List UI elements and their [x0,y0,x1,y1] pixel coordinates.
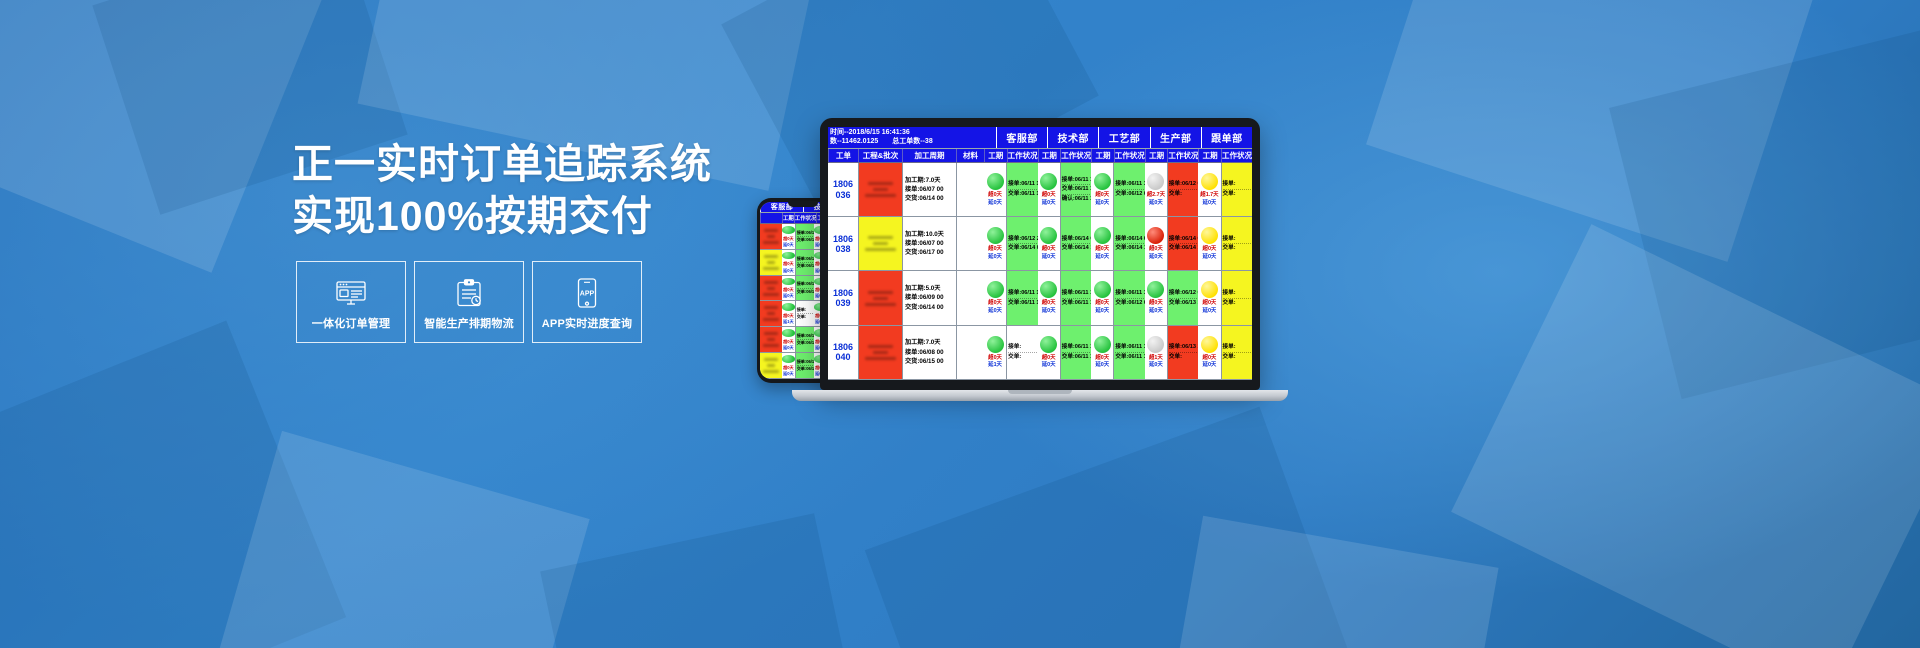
delay-badge: 延0天 [782,242,794,247]
duration-cell-客服部: 超0天延0天 [984,217,1006,270]
clipboard-schedule-icon [456,278,482,308]
work-status-cell-客服部: 接单:06/11 17交单:06/11 17 [795,327,814,352]
status-tags: 超0天延0天 [782,339,795,350]
status-tags: 超0天延0天 [782,365,795,376]
work-status-cell-技术部: 接单:06/11 17交单:06/11 17确认:06/11 17 [1060,163,1091,216]
work-status-cell-跟单部: 接单:交单: [1221,163,1252,216]
erp-subheader: 工单工程&批次加工周期材料工期工作状况工期工作状况工期工作状况工期工作状况工期工… [828,149,1252,163]
subheader-生产部-工期: 工期 [1145,149,1168,162]
work-status-cell-工艺部: 接单:06/11 17交单:06/12 09 [1113,163,1144,216]
dept-group-客服部: 超0天延1天接单:交单: [984,326,1038,379]
overdue-badge: 超0天 [782,365,794,370]
delay-badge: 延0天 [782,371,794,376]
cycle-line: 接单:06/09 00 [905,293,954,302]
delay-badge: 延0天 [1148,308,1164,315]
dept-group-客服部: 超0天延0天接单:06/12 20交单:06/14 06 [782,353,814,378]
duration-cell-技术部: 超0天延0天 [1038,217,1060,270]
status-dot-green [1040,227,1057,244]
work-status-cell-客服部: 接单:06/11 17交单:06/11 17 [795,224,814,249]
work-status-cell-客服部: 接单:06/11 17交单:06/11 17 [1006,271,1037,324]
status-line: 接单:06/11 17 [1062,343,1090,353]
duration-cell-工艺部: 超0天延0天 [1091,163,1113,216]
status-line: 交单:06/14 06 [797,366,813,372]
status-tags: 超0天延0天 [1038,192,1060,207]
status-dot-green [1094,281,1111,298]
status-line: 交单:06/11 17 [1115,353,1143,362]
status-line: 交单:06/14 14 [1169,244,1197,253]
cycle-line: 交货:06/17 00 [905,248,954,257]
subheader-材料: 材料 [956,149,984,162]
erp-dashboard: 时间--2018/6/15 16:41:36 数--11462.0125 总工单… [828,127,1252,380]
work-status-cell-技术部: 接单:06/14 06交单:06/14 14 [1060,217,1091,270]
status-line: 接单:06/12 20 [797,256,813,263]
delay-badge: 延0天 [1202,308,1218,315]
work-status-cell-工艺部: 接单:06/11 17交单:06/12 09 [1113,271,1144,324]
subheader-加工周期: 加工周期 [902,149,956,162]
status-dot-red [1147,227,1164,244]
status-tags: 超0天延0天 [1145,300,1167,315]
delay-badge: 延0天 [1148,200,1164,207]
status-dot-green [1094,227,1111,244]
dept-group-技术部: 超0天延0天接单:06/11 17交单:06/11 17确认:06/11 17 [1038,163,1092,216]
delay-badge: 延1天 [987,362,1003,369]
duration-cell-工艺部: 超0天延0天 [1091,217,1113,270]
delay-badge: 延0天 [987,308,1003,315]
table-row[interactable]: 1806036加工期:7.0天接单:06/07 00交货:06/14 00超0天… [828,163,1252,217]
processing-cycle-cell: 加工期:7.0天接单:06/08 00交货:06/15 00 [902,326,956,379]
cycle-line: 交货:06/14 00 [905,194,954,203]
subheader-跟单部-工期: 工期 [1198,149,1221,162]
erp-meta-count-line: 数--11462.0125 总工单数--38 [830,137,994,146]
status-tags: 超0天延0天 [1038,246,1060,261]
subheader-客服部-工作状况: 工作状况 [794,213,817,223]
status-dot-green [782,355,795,363]
cycle-line: 加工期:10.0天 [905,230,954,239]
status-tags: 超0天延0天 [1198,300,1220,315]
status-dot-green [782,303,795,311]
delay-badge: 延0天 [1094,254,1110,261]
dept-group-客服部: 超0天延0天接单:06/11 17交单:06/11 17 [782,276,814,301]
status-dot-yellow [1201,281,1218,298]
status-line: 交单: [797,314,813,320]
status-line: 交单:06/14 14 [1115,244,1143,253]
status-line: 交单:06/11 17 [1008,299,1036,308]
status-dot-green [782,226,795,234]
dept-group-客服部: 超0天延0天接单:06/11 17交单:06/11 17 [984,163,1038,216]
cycle-line: 加工期:5.0天 [905,284,954,293]
dept-group-客服部: 超0天延1天接单:交单: [782,301,814,326]
overdue-badge: 超0天 [1041,355,1057,362]
status-dot-yellow [1201,336,1218,353]
feature-label: 一体化订单管理 [312,315,390,331]
erp-meta-time-line: 时间--2018/6/15 16:41:36 [830,128,994,137]
subheader-技术部-工期: 工期 [1038,149,1061,162]
project-batch-cell [858,271,902,324]
status-line: 接单:06/11 17 [1008,289,1036,299]
work-status-cell-生产部: 接单:06/12 09交单:06/13 10 [1167,271,1198,324]
status-tags: 超0天延0天 [1091,192,1113,207]
work-status-cell-客服部: 接单:06/11 17交单:06/11 17 [795,276,814,301]
cycle-line: 接单:06/07 00 [905,239,954,248]
dept-group-技术部: 超0天延0天接单:06/14 06交单:06/14 14 [1038,217,1092,270]
status-line: 交单: [1169,190,1197,199]
overdue-badge: 超0天 [987,246,1003,253]
material-cell [956,217,984,270]
dept-group-客服部: 超0天延0天接单:06/11 17交单:06/11 17 [984,271,1038,324]
cycle-line: 交货:06/15 00 [905,357,954,366]
erp-count-label: 数--11462.0125 [830,137,878,146]
delay-badge: 延0天 [1041,254,1057,261]
work-status-cell-跟单部: 接单:交单: [1221,217,1252,270]
dept-group-技术部: 超0天延0天接单:06/11 17交单:06/11 17 [1038,271,1092,324]
processing-cycle-cell: 加工期:5.0天接单:06/09 00交货:06/14 00 [902,271,956,324]
svg-text:APP: APP [580,290,595,297]
dept-group-工艺部: 超0天延0天接单:06/11 17交单:06/11 17 [1091,326,1145,379]
duration-cell-客服部: 超0天延0天 [782,327,795,352]
work-status-cell-客服部: 接单:06/12 20交单:06/14 06 [795,250,814,275]
order-number-cell: 1806038 [828,217,858,270]
status-line: 接单:06/13 16 [1169,343,1197,353]
subheader-spacer [760,213,782,223]
delay-badge: 延0天 [782,345,794,350]
overdue-badge: 超0天 [987,355,1003,362]
subheader-客服部-工期: 工期 [984,149,1007,162]
subheader-客服部-工作状况: 工作状况 [1007,149,1038,162]
delay-badge: 延0天 [987,200,1003,207]
feature-card-app-tracking[interactable]: APP APP实时进度查询 [532,261,642,343]
delay-badge: 延0天 [1041,362,1057,369]
status-tags: 超0天延0天 [1091,300,1113,315]
status-tags: 超0天延0天 [1145,246,1167,261]
headline-line-2: 实现100%按期交付 [292,190,762,242]
table-row[interactable]: 1806039加工期:5.0天接单:06/09 00交货:06/14 00超0天… [828,271,1252,325]
status-line: 交单: [1223,299,1251,308]
delay-badge: 延0天 [1094,200,1110,207]
status-dot-green [782,252,795,260]
status-dot-green [1040,173,1057,190]
processing-cycle-cell: 加工期:7.0天接单:06/07 00交货:06/14 00 [902,163,956,216]
delay-badge: 延0天 [1202,362,1218,369]
status-line: 交单: [1223,190,1251,199]
status-line: 接单:06/12 09 [1169,180,1197,190]
duration-cell-技术部: 超0天延0天 [1038,163,1060,216]
delay-badge: 延0天 [1202,200,1218,207]
delay-badge: 延0天 [1041,200,1057,207]
erp-time-label: 时间--2018/6/15 16:41:36 [830,128,910,137]
status-line: 交单:06/12 09 [1115,299,1143,308]
duration-cell-工艺部: 超0天延0天 [1091,271,1113,324]
laptop-base [792,390,1288,401]
overdue-badge: 超0天 [1041,192,1057,199]
status-dot-grey [1147,173,1164,190]
status-dot-grey [1147,336,1164,353]
dept-group-客服部: 超0天延0天接单:06/11 17交单:06/11 17 [782,327,814,352]
status-tags: 超0天延0天 [782,236,795,247]
status-line: 交单:06/13 10 [1169,299,1197,308]
project-batch-cell [760,301,782,326]
delay-badge: 延0天 [1041,308,1057,315]
work-status-cell-跟单部: 接单:交单: [1221,271,1252,324]
cycle-line: 接单:06/07 00 [905,185,954,194]
overdue-badge: 超0天 [1148,246,1164,253]
status-tags: 超0天延0天 [1091,355,1113,370]
overdue-badge: 超0天 [1094,246,1110,253]
duration-cell-客服部: 超0天延0天 [782,353,795,378]
cycle-line: 加工期:7.0天 [905,176,954,185]
status-line: 交单:06/11 17 [797,340,813,346]
status-tags: 超0天延0天 [1038,300,1060,315]
overdue-badge: 超0天 [782,261,794,266]
overdue-badge: 超1天 [1148,355,1164,362]
status-line: 交单:06/14 06 [797,263,813,269]
erp-table-body: 1806036加工期:7.0天接单:06/07 00交货:06/14 00超0天… [828,163,1252,380]
dept-group-客服部: 超0天延0天接单:06/12 20交单:06/14 06 [984,217,1038,270]
work-status-cell-客服部: 接单:06/11 17交单:06/11 17 [1006,163,1037,216]
phone-notch [788,201,818,207]
dept-group-跟单部: 超0天延0天接单:交单: [1198,271,1252,324]
delay-badge: 延0天 [782,293,794,298]
status-dot-green [1094,336,1111,353]
dept-group-生产部: 超0天延0天接单:06/14 06交单:06/14 14 [1145,217,1199,270]
table-row[interactable]: 1806040加工期:7.0天接单:06/08 00交货:06/15 00超0天… [828,326,1252,380]
overdue-badge: 超0天 [782,236,794,241]
work-status-cell-生产部: 接单:06/14 06交单:06/14 14 [1167,217,1198,270]
duration-cell-客服部: 超0天延1天 [782,301,795,326]
overdue-badge: 超0天 [987,192,1003,199]
work-status-cell-生产部: 接单:06/12 09交单: [1167,163,1198,216]
status-tags: 超2.7天延0天 [1145,192,1167,207]
delay-badge: 延0天 [1148,362,1164,369]
duration-cell-生产部: 超1天延0天 [1145,326,1167,379]
status-line: 交单:06/12 09 [1115,190,1143,199]
department-header-生产部: 生产部 [1150,127,1201,148]
overdue-badge: 超0天 [782,287,794,292]
status-line: 接单: [1223,235,1251,245]
dept-group-客服部: 超0天延0天接单:06/11 17交单:06/11 17 [782,224,814,249]
status-tags: 超0天延0天 [1198,246,1220,261]
overdue-badge: 超0天 [1148,300,1164,307]
project-batch-cell [760,353,782,378]
dept-group-生产部: 超1天延0天接单:06/13 16交单: [1145,326,1199,379]
status-dot-yellow [1201,173,1218,190]
overdue-badge: 超0天 [1202,300,1218,307]
status-dot-green [782,278,795,286]
overdue-badge: 超0天 [1094,355,1110,362]
duration-cell-跟单部: 超0天延0天 [1198,271,1220,324]
work-status-cell-生产部: 接单:06/13 16交单: [1167,326,1198,379]
promo-banner: 正一实时订单追踪系统 实现100%按期交付 [0,0,1920,648]
status-tags: 超0天延0天 [984,300,1006,315]
overdue-badge: 超0天 [1094,300,1110,307]
status-line: 接单:06/11 17 [1115,343,1143,353]
status-line: 接单:06/11 17 [1115,180,1143,190]
headline-line-1: 正一实时订单追踪系统 [292,138,762,190]
project-batch-cell [760,276,782,301]
feature-list: 一体化订单管理 智能生产排期物流 [296,261,642,343]
status-tags: 超0天延0天 [984,246,1006,261]
status-line: 接单:06/14 06 [1169,235,1197,245]
status-line: 交单:06/11 17 [797,289,813,295]
overdue-badge: 超0天 [1041,300,1057,307]
project-batch-cell [760,224,782,249]
department-header-工艺部: 工艺部 [1098,127,1149,148]
status-tags: 超0天延0天 [782,287,795,298]
laptop-lid: 时间--2018/6/15 16:41:36 数--11462.0125 总工单… [820,118,1260,390]
duration-cell-客服部: 超0天延0天 [782,276,795,301]
duration-cell-客服部: 超0天延0天 [984,271,1006,324]
status-line: 交单: [1008,353,1036,362]
status-dot-green [987,227,1004,244]
dept-group-技术部: 超0天延0天接单:06/11 17交单:06/11 17 [1038,326,1092,379]
overdue-badge: 超0天 [987,300,1003,307]
status-line: 接单:06/11 17 [797,230,813,237]
project-batch-cell [760,250,782,275]
status-line: 交单: [1223,244,1251,253]
subheader-跟单部-工作状况: 工作状况 [1221,149,1252,162]
status-line: 交单: [1169,353,1197,362]
status-line: 确认:06/11 17 [1062,195,1090,204]
erp-header: 时间--2018/6/15 16:41:36 数--11462.0125 总工单… [828,127,1252,149]
status-line: 接单:06/12 20 [1008,235,1036,245]
delay-badge: 延0天 [1094,308,1110,315]
work-status-cell-技术部: 接单:06/11 17交单:06/11 17 [1060,326,1091,379]
erp-total-label: 总工单数--38 [892,137,932,146]
status-dot-green [1040,336,1057,353]
dept-group-生产部: 超2.7天延0天接单:06/12 09交单: [1145,163,1199,216]
department-header-跟单部: 跟单部 [1201,127,1252,148]
status-dot-green [1147,281,1164,298]
status-line: 交单:06/11 17 [1008,190,1036,199]
subheader-客服部-工期: 工期 [782,213,794,223]
cycle-line: 交货:06/14 00 [905,303,954,312]
duration-cell-工艺部: 超0天延0天 [1091,326,1113,379]
status-dot-green [782,329,795,337]
dept-group-跟单部: 超1.7天延0天接单:交单: [1198,163,1252,216]
delay-badge: 延1天 [782,319,794,324]
status-line: 接单:06/12 20 [797,359,813,366]
status-dot-green [987,173,1004,190]
duration-cell-客服部: 超0天延0天 [782,250,795,275]
status-line: 接单:06/11 17 [1062,289,1090,299]
feature-card-order-management[interactable]: 一体化订单管理 [296,261,406,343]
material-cell [956,163,984,216]
headline-block: 正一实时订单追踪系统 实现100%按期交付 [292,138,762,243]
department-header-客服部: 客服部 [996,127,1047,148]
duration-cell-生产部: 超0天延0天 [1145,217,1167,270]
duration-cell-跟单部: 超0天延0天 [1198,217,1220,270]
cycle-line: 加工期:7.0天 [905,338,954,347]
poly-facet [1161,516,1498,648]
status-line: 交单: [1223,353,1251,362]
dept-group-生产部: 超0天延0天接单:06/12 09交单:06/13 10 [1145,271,1199,324]
status-dot-green [987,281,1004,298]
status-line: 接单:06/11 17 [1008,180,1036,190]
status-dot-yellow [1201,227,1218,244]
duration-cell-生产部: 超0天延0天 [1145,271,1167,324]
delay-badge: 延0天 [1094,362,1110,369]
subheader-生产部-工作状况: 工作状况 [1167,149,1198,162]
overdue-badge: 超0天 [1094,192,1110,199]
duration-cell-客服部: 超0天延0天 [782,224,795,249]
dept-group-工艺部: 超0天延0天接单:06/11 17交单:06/12 09 [1091,163,1145,216]
status-line: 交单:06/11 17 [1062,353,1090,362]
overdue-badge: 超0天 [1202,246,1218,253]
status-line: 接单: [1008,343,1036,353]
project-batch-cell [858,217,902,270]
status-tags: 超0天延1天 [984,355,1006,370]
order-number-cell: 1806036 [828,163,858,216]
subheader-工程&批次: 工程&批次 [858,149,902,162]
dept-group-客服部: 超0天延0天接单:06/12 20交单:06/14 06 [782,250,814,275]
duration-cell-技术部: 超0天延0天 [1038,271,1060,324]
subheader-技术部-工作状况: 工作状况 [1060,149,1091,162]
duration-cell-客服部: 超0天延1天 [984,326,1006,379]
project-batch-cell [858,326,902,379]
status-line: 交单:06/14 06 [1008,244,1036,253]
monitor-order-icon [336,278,366,308]
duration-cell-跟单部: 超0天延0天 [1198,326,1220,379]
status-line: 接单: [1223,289,1251,299]
status-line: 交单:06/11 17 [797,237,813,243]
status-line: 接单:06/12 09 [1169,289,1197,299]
work-status-cell-技术部: 接单:06/11 17交单:06/11 17 [1060,271,1091,324]
order-number-cell: 1806040 [828,326,858,379]
poly-facet [540,513,860,648]
status-line: 接单: [1223,180,1251,190]
status-dot-green [1040,281,1057,298]
status-dot-green [1094,173,1111,190]
dept-group-跟单部: 超0天延0天接单:交单: [1198,217,1252,270]
dept-group-工艺部: 超0天延0天接单:06/14 06交单:06/14 14 [1091,217,1145,270]
overdue-badge: 超2.7天 [1146,192,1166,199]
table-row[interactable]: 1806038加工期:10.0天接单:06/07 00交货:06/17 00超0… [828,217,1252,271]
overdue-badge: 超0天 [1041,246,1057,253]
status-line: 接单: [1223,343,1251,353]
status-tags: 超0天延0天 [1038,355,1060,370]
department-header-技术部: 技术部 [1047,127,1098,148]
work-status-cell-客服部: 接单:06/12 20交单:06/14 06 [795,353,814,378]
work-status-cell-客服部: 接单:交单: [1006,326,1037,379]
feature-card-production-schedule[interactable]: 智能生产排期物流 [414,261,524,343]
work-status-cell-工艺部: 接单:06/14 06交单:06/14 14 [1113,217,1144,270]
status-line: 接单:06/14 06 [1115,235,1143,245]
duration-cell-技术部: 超0天延0天 [1038,326,1060,379]
status-line: 交单:06/14 14 [1062,244,1090,253]
work-status-cell-跟单部: 接单:交单: [1221,326,1252,379]
dept-group-跟单部: 超0天延0天接单:交单: [1198,326,1252,379]
feature-label: APP实时进度查询 [542,315,632,331]
status-tags: 超0天延0天 [782,261,795,272]
order-number-cell: 1806039 [828,271,858,324]
project-batch-cell [858,163,902,216]
laptop-screen: 时间--2018/6/15 16:41:36 数--11462.0125 总工单… [828,127,1252,380]
status-tags: 超0天延0天 [984,192,1006,207]
status-tags: 超0天延0天 [1091,246,1113,261]
duration-cell-生产部: 超2.7天延0天 [1145,163,1167,216]
status-line: 接单:06/11 17 [1062,176,1090,186]
status-line: 交单:06/11 17 [1062,185,1090,195]
work-status-cell-工艺部: 接单:06/11 17交单:06/11 17 [1113,326,1144,379]
overdue-badge: 超0天 [782,339,794,344]
processing-cycle-cell: 加工期:10.0天接单:06/07 00交货:06/17 00 [902,217,956,270]
status-tags: 超0天延1天 [782,313,795,324]
subheader-工单: 工单 [828,149,858,162]
delay-badge: 延0天 [987,254,1003,261]
status-tags: 超1天延0天 [1145,355,1167,370]
subheader-工艺部-工期: 工期 [1091,149,1114,162]
material-cell [956,271,984,324]
duration-cell-客服部: 超0天延0天 [984,163,1006,216]
